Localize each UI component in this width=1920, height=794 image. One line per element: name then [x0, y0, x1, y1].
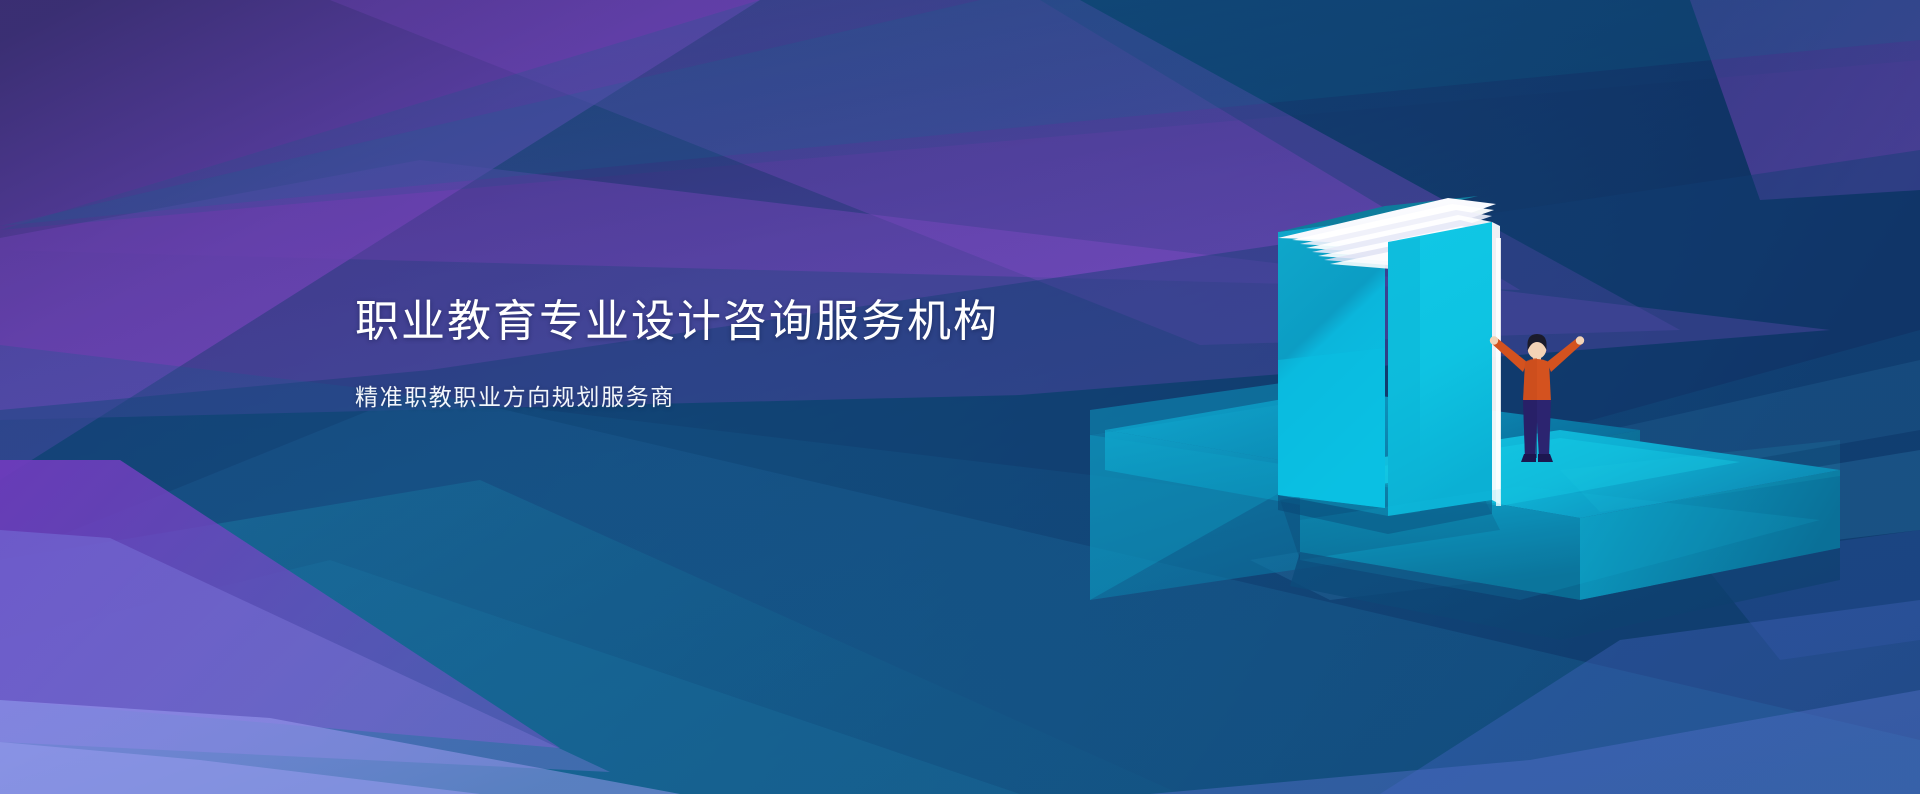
person-right-hand [1576, 336, 1584, 344]
page-subtitle: 精准职教职业方向规划服务商 [355, 348, 999, 412]
person-left-hand [1490, 336, 1498, 344]
banner-copy: 职业教育专业设计咨询服务机构 精准职教职业方向规划服务商 [355, 296, 999, 412]
hero-banner: 职业教育专业设计咨询服务机构 精准职教职业方向规划服务商 [0, 0, 1920, 794]
page-title: 职业教育专业设计咨询服务机构 [355, 296, 999, 348]
